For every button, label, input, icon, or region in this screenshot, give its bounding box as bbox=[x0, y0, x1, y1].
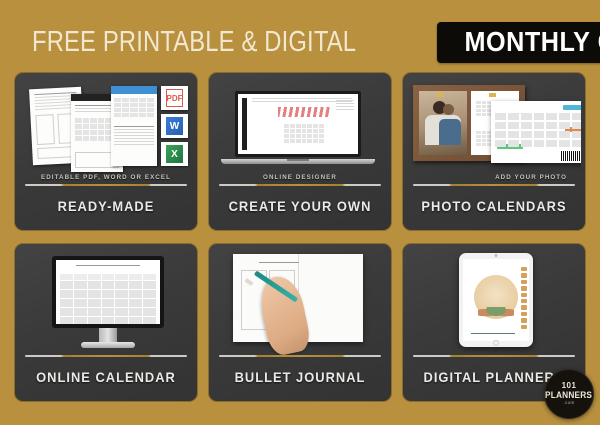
card-photo-calendars[interactable]: ADD YOUR PHOTO PHOTO CALENDARS bbox=[402, 72, 586, 231]
digital-planner-cover bbox=[463, 259, 529, 341]
card-title: BULLET JOURNAL bbox=[220, 357, 380, 397]
card-title: ONLINE CALENDAR bbox=[26, 357, 186, 397]
tablet-icon bbox=[459, 253, 533, 347]
card-inner: BULLET JOURNAL bbox=[213, 248, 387, 397]
tablet-home-button bbox=[493, 340, 499, 346]
card-online-calendar[interactable]: ONLINE CALENDAR bbox=[14, 243, 198, 402]
card-art-laptop-designer: ONLINE DESIGNER bbox=[213, 77, 387, 184]
planner-tab-strip bbox=[521, 267, 527, 329]
calendar-grid-preview bbox=[56, 260, 160, 324]
wreath-illustration bbox=[474, 275, 518, 319]
card-art-notebook-hand-pen bbox=[213, 248, 387, 355]
card-inner: ONLINE CALENDAR bbox=[19, 248, 193, 397]
logo-line-3: .com bbox=[563, 401, 574, 406]
monitor-foot bbox=[81, 342, 135, 348]
printable-sheet-icon bbox=[111, 86, 157, 166]
card-inner: ONLINE DESIGNER CREATE YOUR OWN bbox=[213, 77, 387, 226]
laptop-notch bbox=[287, 159, 309, 161]
word-file-icon: W bbox=[161, 114, 188, 138]
card-title: CREATE YOUR OWN bbox=[220, 186, 380, 226]
family-photo bbox=[419, 91, 467, 155]
header-badge-text: MONTHLY CALENDARS bbox=[465, 28, 600, 56]
logo-line-2: PLANNERS bbox=[545, 390, 592, 401]
photo-calendar-preview bbox=[491, 101, 581, 163]
header-prefix-text: FREE PRINTABLE & DIGITAL bbox=[32, 28, 356, 57]
card-ready-made[interactable]: PDF W X EDITABLE PDF, WORD OR EXCEL READ… bbox=[14, 72, 198, 231]
script-text-preview bbox=[278, 107, 330, 117]
logo-line-1: 101 bbox=[562, 382, 577, 390]
card-art-photo-frame-calendar: ADD YOUR PHOTO bbox=[407, 77, 581, 184]
tablet-camera-icon bbox=[495, 254, 498, 257]
card-bullet-journal[interactable]: BULLET JOURNAL bbox=[208, 243, 392, 402]
card-title: READY-MADE bbox=[26, 186, 186, 226]
excel-file-icon-label: X bbox=[166, 145, 183, 163]
barcode-icon bbox=[561, 151, 581, 161]
designer-canvas bbox=[238, 94, 358, 154]
card-inner: ADD YOUR PHOTO PHOTO CALENDARS bbox=[407, 77, 581, 226]
card-sublabel: ONLINE DESIGNER bbox=[213, 174, 387, 181]
pdf-file-icon: PDF bbox=[161, 86, 188, 110]
pdf-file-icon-label: PDF bbox=[166, 89, 183, 107]
card-art-desktop-monitor-calendar bbox=[19, 248, 193, 355]
card-inner: PDF W X EDITABLE PDF, WORD OR EXCEL READ… bbox=[19, 77, 193, 226]
card-art-printable-sheets: PDF W X EDITABLE PDF, WORD OR EXCEL bbox=[19, 77, 193, 184]
category-grid: PDF W X EDITABLE PDF, WORD OR EXCEL READ… bbox=[14, 72, 586, 402]
designer-toolbar-icon bbox=[242, 98, 247, 150]
card-title: PHOTO CALENDARS bbox=[414, 186, 574, 226]
laptop-icon bbox=[235, 91, 361, 157]
page-header: FREE PRINTABLE & DIGITAL MONTHLY CALENDA… bbox=[32, 20, 576, 64]
word-file-icon-label: W bbox=[166, 117, 183, 135]
file-format-icons: PDF W X bbox=[161, 86, 188, 166]
excel-file-icon: X bbox=[161, 142, 188, 166]
site-logo[interactable]: 101 PLANNERS .com bbox=[544, 369, 594, 419]
header-badge: MONTHLY CALENDARS bbox=[437, 22, 600, 63]
card-art-tablet-in-hand bbox=[407, 248, 581, 355]
card-sublabel: EDITABLE PDF, WORD OR EXCEL bbox=[19, 174, 193, 181]
card-create-your-own[interactable]: ONLINE DESIGNER CREATE YOUR OWN bbox=[208, 72, 392, 231]
monitor-icon bbox=[52, 256, 164, 328]
card-sublabel: ADD YOUR PHOTO bbox=[407, 174, 581, 181]
